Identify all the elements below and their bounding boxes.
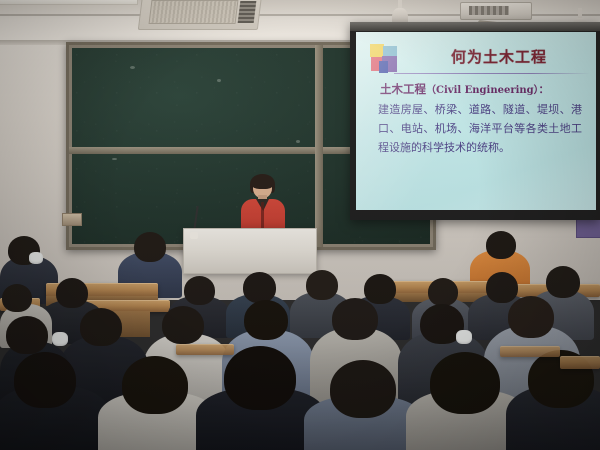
student-head	[243, 272, 276, 303]
student-head-foreground	[224, 346, 296, 410]
student-head	[184, 276, 215, 305]
student-head	[486, 272, 518, 303]
projection-screen: 何为土木工程 土木工程（Civil Engineering）： 建造房屋、桥梁、…	[350, 22, 600, 220]
chalk-mark	[112, 158, 117, 160]
student-head	[306, 270, 338, 300]
podium-top	[0, 0, 138, 5]
slide-decoration-squares	[370, 44, 400, 74]
chalkboard-vertical-divider	[315, 45, 323, 151]
student-head-foreground	[330, 360, 396, 418]
student-head	[6, 316, 48, 354]
chalk-mark	[217, 79, 221, 82]
air-conditioner-icon	[138, 0, 262, 30]
bench-edge	[500, 346, 560, 357]
deco-square-blue	[379, 61, 388, 73]
presentation-slide: 何为土木工程 土木工程（Civil Engineering）： 建造房屋、桥梁、…	[356, 32, 596, 210]
bench-edge	[176, 344, 234, 355]
student-head	[56, 278, 88, 308]
podium	[183, 228, 317, 274]
wall-outlet-icon	[62, 213, 82, 226]
student-head	[134, 232, 166, 262]
slide-subtitle: 土木工程（Civil Engineering）：	[380, 81, 549, 97]
face-mask	[52, 332, 68, 346]
projector-lens	[469, 6, 509, 15]
student-head-foreground	[14, 352, 76, 408]
student-head	[486, 231, 516, 259]
student-head	[364, 274, 396, 304]
student-head	[332, 298, 378, 340]
student-head	[508, 296, 554, 338]
ac-side-grille	[238, 1, 257, 23]
student-head-foreground	[122, 356, 188, 414]
student-head	[428, 278, 458, 306]
student-head	[244, 300, 288, 340]
slide-body-text: 建造房屋、桥梁、道路、隧道、堤坝、港口、电站、机场、海洋平台等各类土地工程设施的…	[378, 100, 582, 157]
lecturer-hair	[251, 174, 274, 189]
lecturer	[240, 176, 286, 236]
student-head	[2, 284, 32, 312]
lecturer-jacket-opening	[261, 202, 264, 230]
slide-title-underline	[394, 73, 590, 74]
student-head	[546, 266, 580, 298]
bench-edge	[560, 356, 600, 369]
slide-title: 何为土木工程	[408, 46, 590, 67]
lecture-hall-photo: 何为土木工程 土木工程（Civil Engineering）： 建造房屋、桥梁、…	[0, 0, 600, 450]
student-head	[162, 306, 204, 344]
screen-roller-bar	[350, 22, 600, 31]
slide-subtitle-en: （Civil Engineering）：	[426, 85, 549, 96]
projector-icon	[460, 2, 532, 20]
face-mask	[29, 252, 43, 264]
face-mask	[456, 330, 472, 344]
student-head-foreground	[430, 352, 500, 414]
ac-vent-grille	[149, 0, 239, 24]
slide-subtitle-cn: 土木工程	[380, 82, 426, 96]
chalk-mark	[296, 140, 300, 143]
microphone-icon	[190, 232, 198, 239]
chalk-mark	[130, 66, 135, 69]
student-head	[80, 308, 122, 346]
